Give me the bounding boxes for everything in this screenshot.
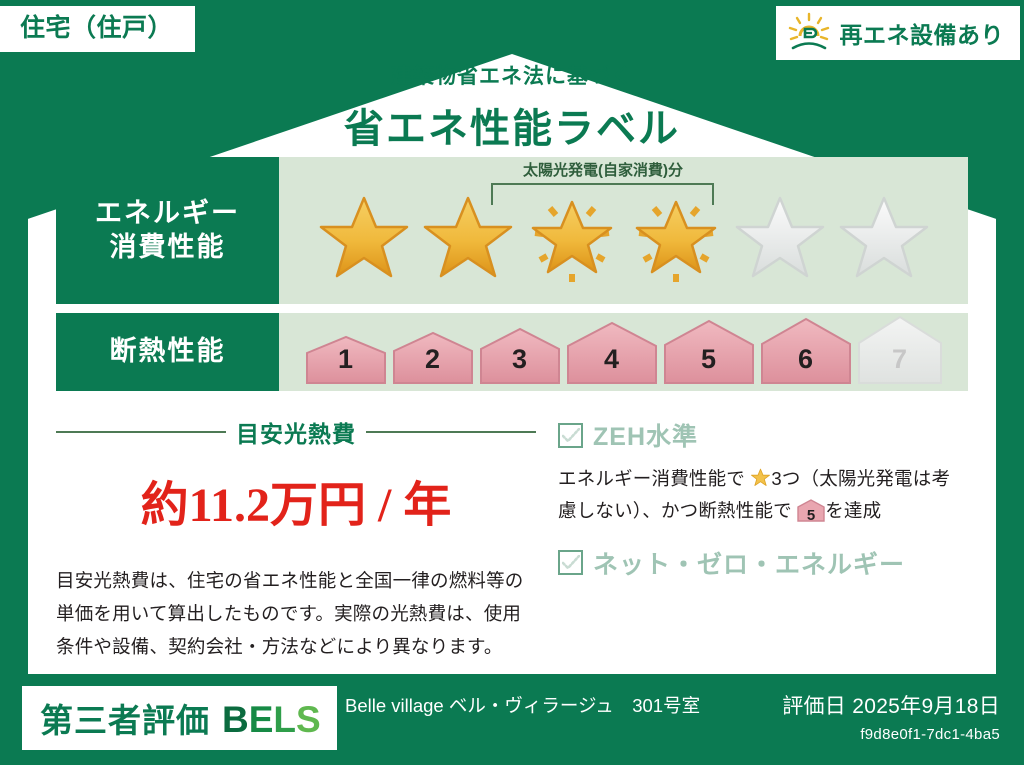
insulation-level-3-number: 3	[477, 344, 563, 375]
bels-logo: 第三者評価 BELS	[22, 686, 337, 750]
renewable-equipment-badge: 再エネ設備あり	[776, 6, 1021, 60]
insulation-rating-area: 1 2 3	[279, 313, 968, 391]
insulation-level-4: 4	[564, 321, 660, 387]
utility-cost-note: 目安光熱費は、住宅の省エネ性能と全国一律の燃料等の単価を用いて算出したものです。…	[56, 565, 536, 664]
energy-label-line2: 消費性能	[110, 231, 226, 265]
bels-letter-e: E	[249, 699, 274, 740]
evaluation-info: 評価日 2025年9月18日 f9d8e0f1-7dc1-4ba5	[782, 690, 1000, 743]
star-icon-6-empty	[834, 188, 934, 288]
star-icon-3-solar	[522, 188, 622, 288]
insulation-level-inline-number: 5	[797, 503, 825, 529]
insulation-level-scale: 1 2 3	[279, 313, 968, 391]
title-subtitle: 建築物省エネ法に基づく	[0, 60, 1024, 90]
building-name: Belle village ベル・ヴィラージュ 301号室	[345, 692, 745, 720]
insulation-level-2: 2	[390, 331, 476, 387]
zeh-title: ZEH水準	[593, 417, 698, 453]
utility-cost-value: 約11.2万円 / 年	[56, 465, 536, 535]
bels-letter-l: L	[273, 699, 296, 740]
lower-info-section: 目安光熱費 約11.2万円 / 年 目安光熱費は、住宅の省エネ性能と全国一律の燃…	[56, 415, 968, 664]
solar-sun-icon	[786, 12, 832, 54]
bels-letter-s: S	[296, 699, 321, 740]
insulation-performance-row: 断熱性能 1 2	[56, 313, 968, 391]
renewable-badge-label: 再エネ設備あり	[840, 16, 1005, 50]
star-icon-4-solar	[626, 188, 726, 288]
bels-wordmark: BELS	[222, 699, 321, 741]
third-party-eval-label: 第三者評価	[40, 694, 210, 742]
net-zero-energy-title: ネット・ゼロ・エネルギー	[593, 545, 905, 581]
solar-contribution-caption: 太陽光発電(自家消費)分	[477, 159, 729, 180]
zeh-block: ZEH水準 エネルギー消費性能で 3つ（太陽光発電は考慮しない）、かつ断熱性能で…	[536, 415, 968, 664]
insulation-level-6: 6	[758, 317, 854, 387]
energy-label-line1: エネルギー	[95, 197, 240, 231]
zeh-checkbox[interactable]	[558, 423, 583, 448]
energy-performance-row: エネルギー 消費性能 太陽光発電(自家消費)分	[56, 157, 968, 304]
heading-rule-left	[56, 431, 226, 433]
evaluation-date: 評価日 2025年9月18日	[782, 690, 1000, 720]
label-title-block: 建築物省エネ法に基づく 省エネ性能ラベル	[0, 60, 1024, 154]
zeh-desc-part1: エネルギー消費性能で	[558, 468, 745, 489]
star-icon-1	[314, 188, 414, 288]
zeh-heading-row: ZEH水準	[558, 417, 968, 453]
footer-bar: 第三者評価 BELS Belle village ベル・ヴィラージュ 301号室…	[0, 674, 1024, 765]
net-zero-energy-checkbox[interactable]	[558, 550, 583, 575]
bels-energy-label: 住宅（住戸） 再エネ設備あり	[0, 0, 1024, 765]
house-type-tag: 住宅（住戸）	[0, 6, 195, 52]
heading-rule-right	[366, 431, 536, 433]
energy-rating-area: 太陽光発電(自家消費)分	[279, 157, 968, 304]
insulation-level-1: 1	[303, 335, 389, 387]
insulation-level-1-number: 1	[303, 344, 389, 375]
star-icon-inline	[750, 466, 771, 487]
utility-cost-block: 目安光熱費 約11.2万円 / 年 目安光熱費は、住宅の省エネ性能と全国一律の燃…	[56, 415, 536, 664]
star-icon-5-empty	[730, 188, 830, 288]
zeh-description: エネルギー消費性能で 3つ（太陽光発電は考慮しない）、かつ断熱性能で 5 を達成	[558, 463, 968, 527]
utility-cost-heading-text: 目安光熱費	[236, 415, 356, 449]
insulation-level-7-number: 7	[855, 344, 945, 375]
insulation-level-inline-icon: 5	[797, 499, 825, 522]
check-icon	[562, 428, 580, 443]
insulation-level-5: 5	[661, 319, 757, 387]
energy-performance-label: エネルギー 消費性能	[56, 157, 279, 304]
insulation-level-7: 7	[855, 315, 945, 387]
insulation-level-2-number: 2	[390, 344, 476, 375]
performance-rows: エネルギー 消費性能 太陽光発電(自家消費)分	[56, 157, 968, 400]
insulation-level-4-number: 4	[564, 344, 660, 375]
bels-letter-b: B	[222, 699, 249, 740]
net-zero-energy-row: ネット・ゼロ・エネルギー	[558, 545, 968, 581]
evaluation-id: f9d8e0f1-7dc1-4ba5	[782, 726, 1000, 743]
insulation-level-6-number: 6	[758, 344, 854, 375]
page-title: 省エネ性能ラベル	[0, 96, 1024, 154]
insulation-level-3: 3	[477, 327, 563, 387]
star-icon-2	[418, 188, 518, 288]
insulation-performance-label: 断熱性能	[56, 313, 279, 391]
utility-cost-heading: 目安光熱費	[56, 415, 536, 449]
check-icon	[562, 555, 580, 570]
insulation-level-5-number: 5	[661, 344, 757, 375]
zeh-desc-part3: を達成	[825, 500, 881, 521]
